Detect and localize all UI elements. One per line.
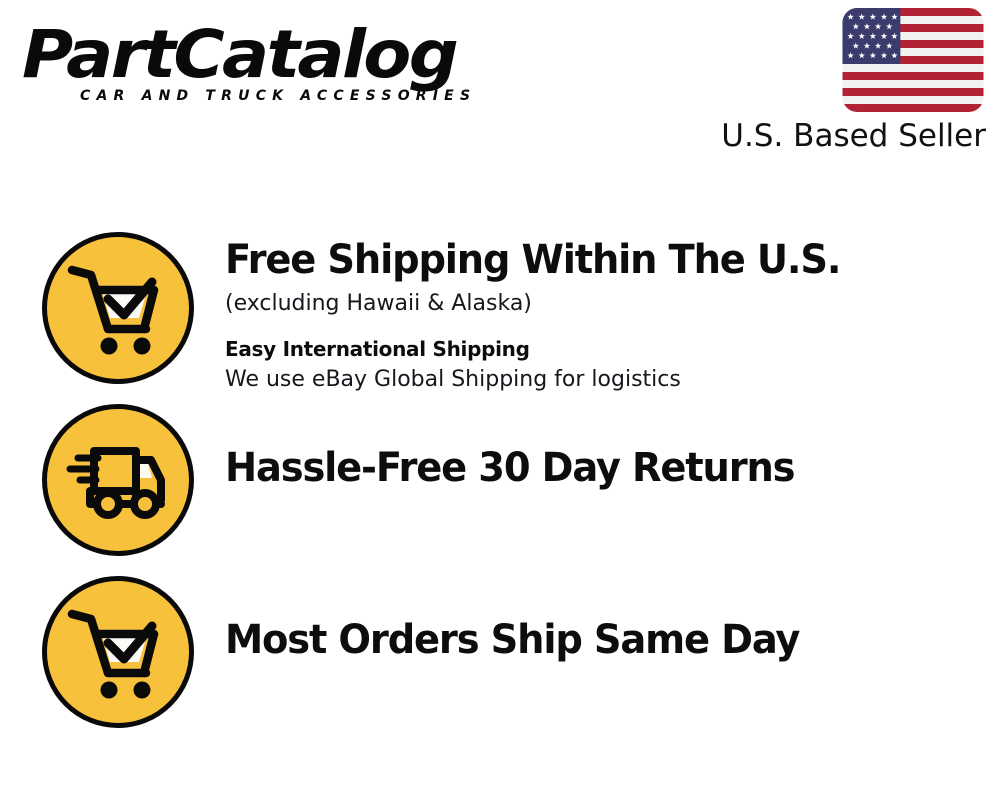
us-based-seller-badge: U.S. Based Seller — [714, 8, 986, 154]
feature-row: Hassle-Free 30 Day Returns — [0, 404, 1000, 556]
feature-text-block: Free Shipping Within The U.S. (excluding… — [225, 232, 1000, 395]
feature-subtext: (excluding Hawaii & Alaska) — [225, 289, 1000, 319]
promo-banner: PartCatalog CAR AND TRUCK ACCESSORIES — [0, 0, 1000, 800]
shopping-cart-check-icon-badge — [42, 232, 194, 384]
shopping-cart-check-icon — [66, 258, 170, 358]
feature-subheading: Easy International Shipping — [225, 336, 1000, 363]
feature-title: Most Orders Ship Same Day — [225, 616, 969, 664]
feature-subnote: We use eBay Global Shipping for logistic… — [225, 365, 1000, 395]
feature-text-block: Most Orders Ship Same Day — [225, 576, 1000, 664]
feature-title: Free Shipping Within The U.S. — [225, 236, 969, 284]
delivery-truck-icon — [66, 438, 170, 522]
feature-row: Most Orders Ship Same Day — [0, 576, 1000, 728]
feature-title: Hassle-Free 30 Day Returns — [225, 444, 969, 492]
feature-text-block: Hassle-Free 30 Day Returns — [225, 404, 1000, 492]
us-based-seller-label: U.S. Based Seller — [714, 118, 986, 154]
shopping-cart-check-icon-badge — [42, 576, 194, 728]
delivery-truck-icon-badge — [42, 404, 194, 556]
feature-row: Free Shipping Within The U.S. (excluding… — [0, 232, 1000, 395]
brand-logo[interactable]: PartCatalog CAR AND TRUCK ACCESSORIES — [22, 18, 492, 118]
brand-wordmark: PartCatalog — [22, 18, 520, 92]
us-flag-icon — [842, 8, 984, 112]
shopping-cart-check-icon — [66, 602, 170, 702]
